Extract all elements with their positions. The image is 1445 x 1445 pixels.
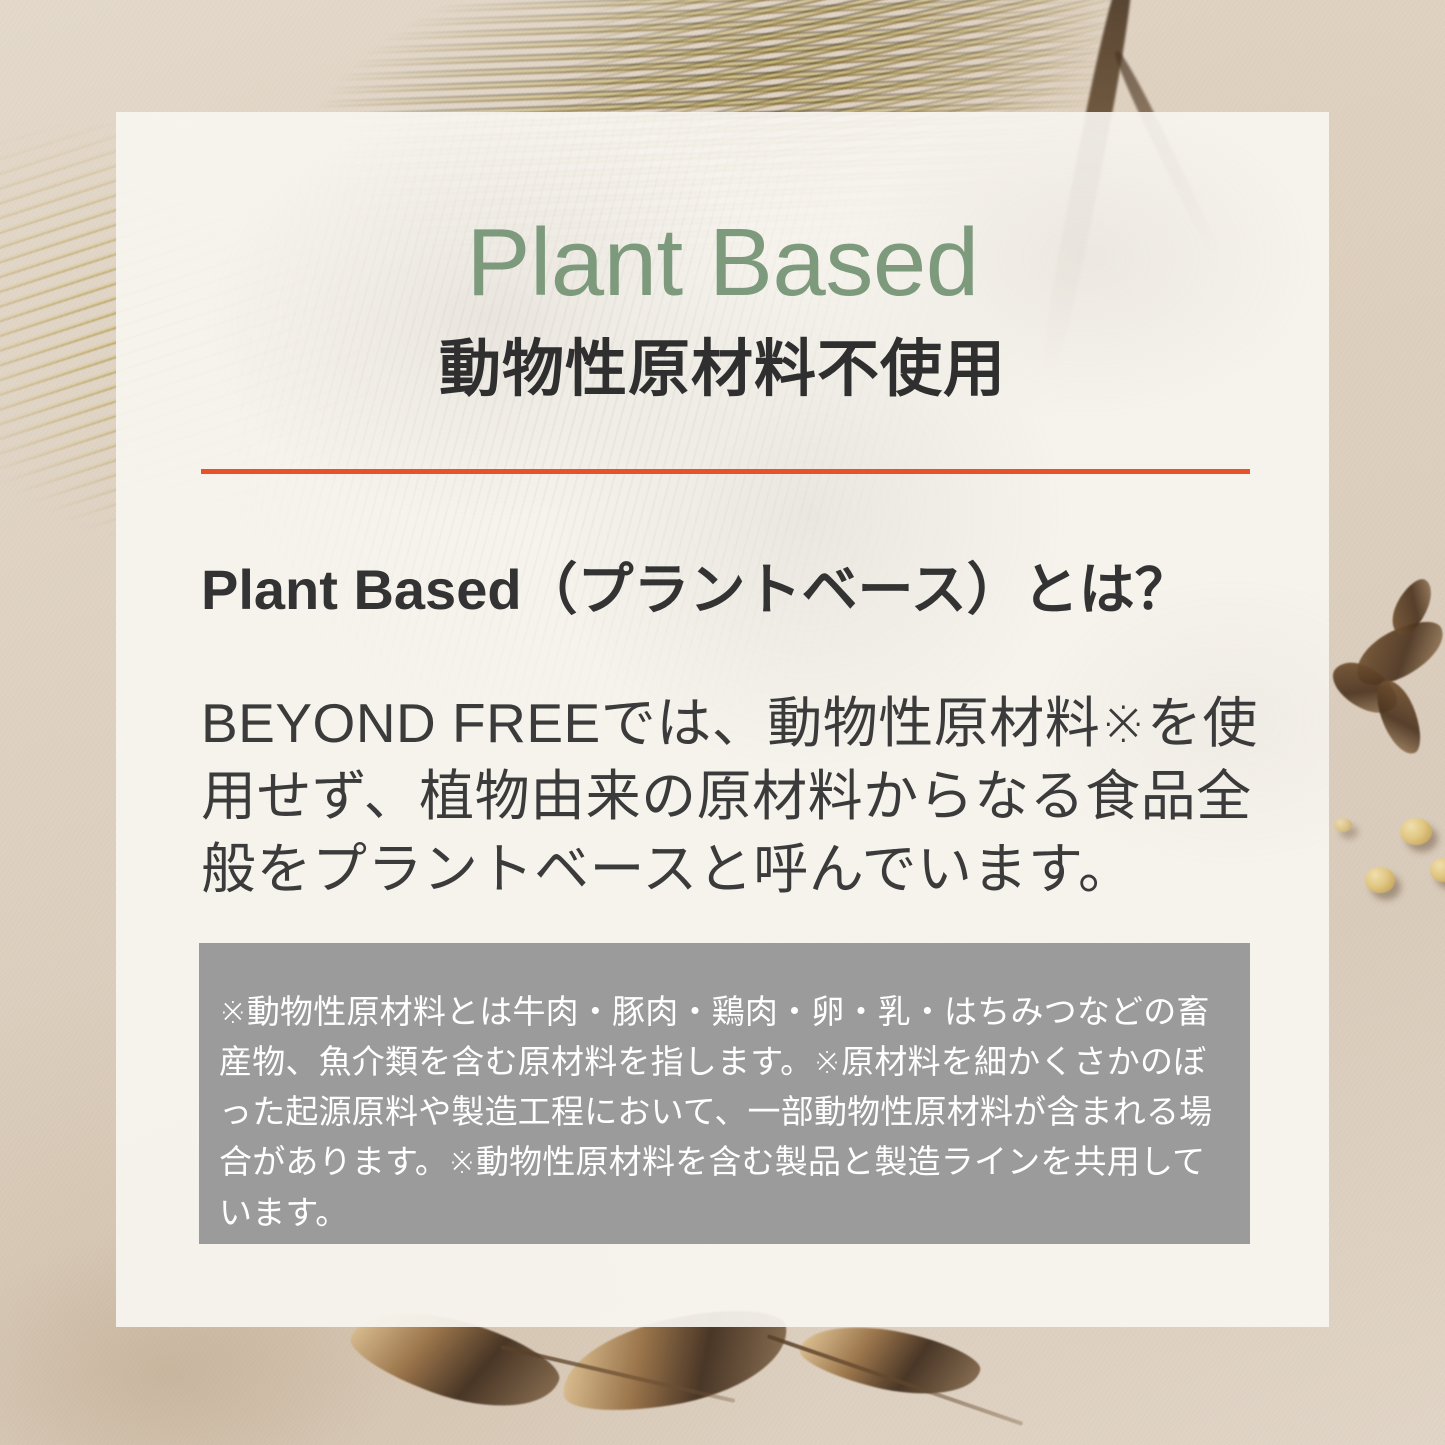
footnote-box: ※動物性原材料とは牛肉・豚肉・鶏肉・卵・乳・はちみつなどの畜産物、魚介類を含む原…	[199, 943, 1250, 1244]
footnote-text: ※動物性原材料とは牛肉・豚肉・鶏肉・卵・乳・はちみつなどの畜産物、魚介類を含む原…	[219, 987, 1220, 1238]
soybean-icon	[1365, 867, 1395, 893]
poster-canvas: Plant Based 動物性原材料不使用 Plant Based（プラントベー…	[0, 0, 1445, 1445]
page-title-japanese: 動物性原材料不使用	[116, 339, 1329, 401]
body-paragraph: BEYOND FREEでは、動物性原材料※を使用せず、植物由来の原材料からなる食…	[201, 687, 1266, 906]
divider-rule	[201, 469, 1250, 474]
page-title-english: Plant Based	[116, 215, 1329, 311]
soybean-icon	[1334, 818, 1352, 832]
section-heading: Plant Based（プラントベース）とは？	[201, 558, 1191, 622]
soybean-icon	[1400, 818, 1432, 845]
content-card: Plant Based 動物性原材料不使用 Plant Based（プラントベー…	[116, 112, 1329, 1327]
